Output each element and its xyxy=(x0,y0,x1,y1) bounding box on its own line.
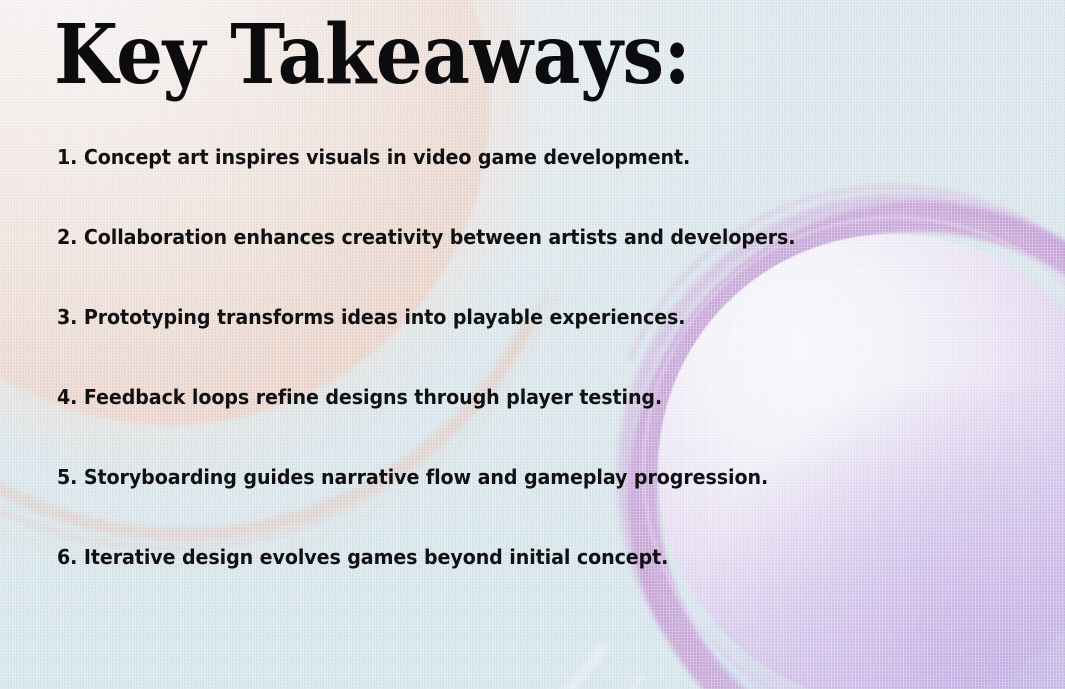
takeaways-list: 1. Concept art inspires visuals in video… xyxy=(57,146,1025,626)
page-title: Key Takeaways: xyxy=(54,14,690,96)
list-item: 3. Prototyping transforms ideas into pla… xyxy=(57,306,957,386)
key-takeaways-slide: Key Takeaways: 1. Concept art inspires v… xyxy=(0,0,1065,689)
list-item-text: 3. Prototyping transforms ideas into pla… xyxy=(57,306,685,329)
list-item: 5. Storyboarding guides narrative flow a… xyxy=(57,466,957,546)
list-item-text: 2. Collaboration enhances creativity bet… xyxy=(57,226,795,249)
list-item: 4. Feedback loops refine designs through… xyxy=(57,386,957,466)
list-item-text: 4. Feedback loops refine designs through… xyxy=(57,386,662,409)
slide-content: Key Takeaways: 1. Concept art inspires v… xyxy=(0,0,1065,689)
list-item-text: 1. Concept art inspires visuals in video… xyxy=(57,146,690,169)
list-item: 6. Iterative design evolves games beyond… xyxy=(57,546,957,626)
list-item: 1. Concept art inspires visuals in video… xyxy=(57,146,957,226)
list-item: 2. Collaboration enhances creativity bet… xyxy=(57,226,957,306)
list-item-text: 5. Storyboarding guides narrative flow a… xyxy=(57,466,768,489)
list-item-text: 6. Iterative design evolves games beyond… xyxy=(57,546,668,569)
